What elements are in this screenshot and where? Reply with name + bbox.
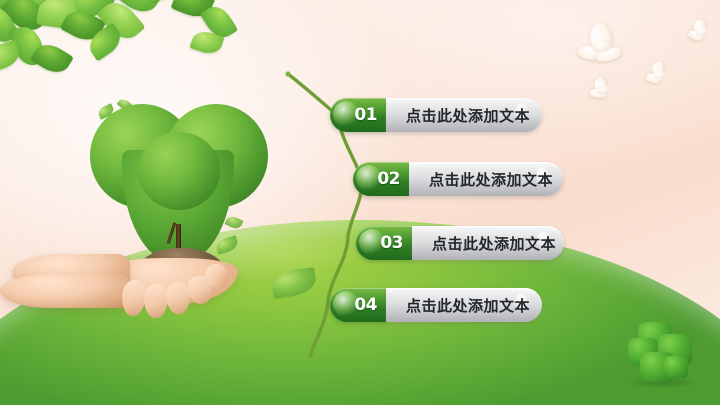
item-number-badge: 01 [330, 98, 386, 132]
item-number-badge: 04 [330, 288, 386, 322]
item-number-label: 01 [354, 105, 386, 125]
dove-icon [578, 24, 624, 64]
cupped-hands [0, 274, 130, 308]
item-text-plate[interactable]: 点击此处添加文本 [386, 288, 542, 322]
list-item[interactable]: 02 点击此处添加文本 [353, 162, 563, 196]
item-text-label: 点击此处添加文本 [409, 169, 553, 190]
heart-tree-foliage [138, 132, 220, 210]
item-text-label: 点击此处添加文本 [386, 295, 530, 316]
item-text-plate[interactable]: 点击此处添加文本 [412, 226, 564, 260]
item-number-label: 03 [380, 233, 412, 253]
topiary-bush-image [628, 322, 696, 384]
item-number-label: 04 [354, 295, 386, 315]
list-item[interactable]: 03 点击此处添加文本 [356, 226, 564, 260]
slide-canvas: 01 点击此处添加文本 02 点击此处添加文本 03 点击此处添加文本 04 [0, 0, 720, 405]
heart-tree-in-hands-image [78, 98, 293, 308]
item-text-plate[interactable]: 点击此处添加文本 [386, 98, 542, 132]
item-number-badge: 02 [353, 162, 409, 196]
dove-icon [590, 78, 616, 100]
list-item[interactable]: 01 点击此处添加文本 [330, 98, 542, 132]
item-number-label: 02 [377, 169, 409, 189]
item-text-label: 点击此处添加文本 [412, 233, 556, 254]
dove-icon [646, 62, 672, 86]
item-text-plate[interactable]: 点击此处添加文本 [409, 162, 563, 196]
item-text-label: 点击此处添加文本 [386, 105, 530, 126]
list-item[interactable]: 04 点击此处添加文本 [330, 288, 542, 322]
dove-icon [688, 20, 714, 44]
item-number-badge: 03 [356, 226, 412, 260]
